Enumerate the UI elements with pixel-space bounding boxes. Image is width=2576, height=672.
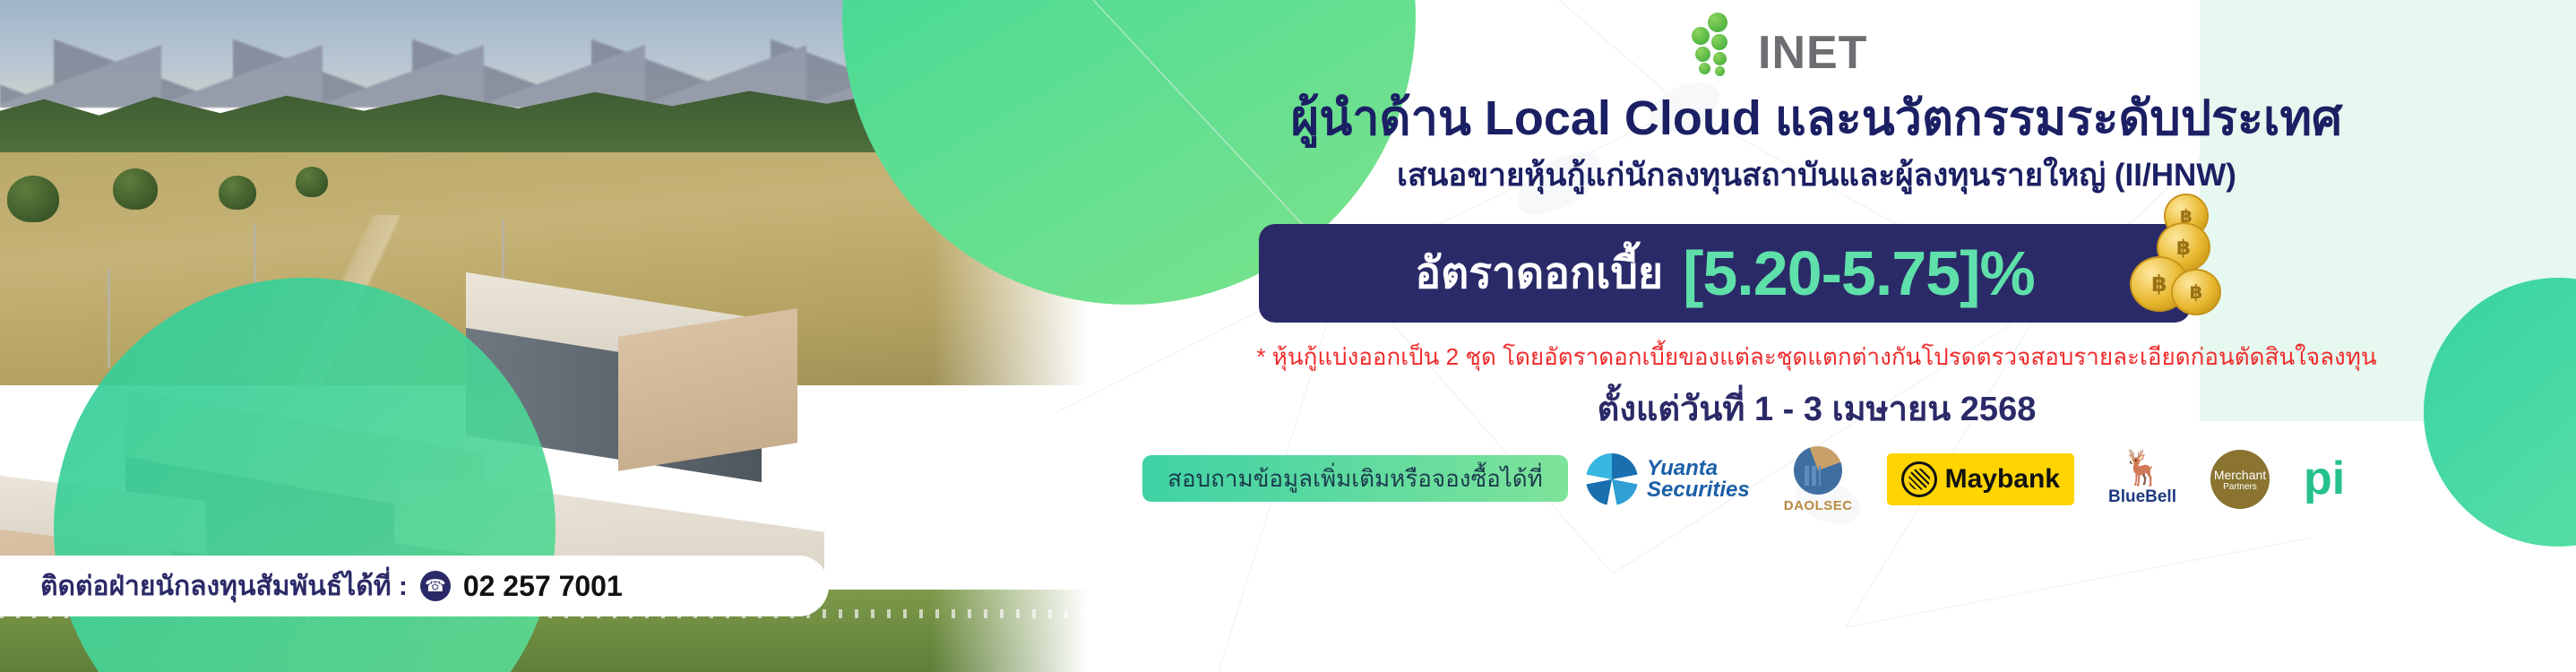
- partner-logo-maybank[interactable]: Maybank: [1887, 453, 2074, 505]
- partner-logos: Yuanta Securities DAOLSEC Maybank 🦌 Blue…: [1586, 439, 2572, 520]
- maybank-tiger-icon: [1901, 461, 1937, 497]
- promotional-banner: INET ผู้นำด้าน Local Cloud และนวัตกรรมระ…: [0, 0, 2576, 672]
- gold-coins-icon: ฿ ฿ ฿ ฿: [2117, 190, 2234, 342]
- headline: ผู้นำด้าน Local Cloud และนวัตกรรมระดับปร…: [1057, 79, 2576, 156]
- bluebell-wordmark: BlueBell: [2108, 487, 2176, 507]
- rate-value: [5.20-5.75]%: [1683, 237, 2035, 309]
- building-wall: [618, 308, 797, 471]
- partner-logo-bluebell[interactable]: 🦌 BlueBell: [2108, 452, 2176, 507]
- investor-relations-contact-bar: ติดต่อฝ่ายนักลงทุนสัมพันธ์ได้ที่ : ☎ 02 …: [0, 556, 829, 616]
- partner-logo-daol[interactable]: DAOLSEC: [1784, 446, 1853, 513]
- contact-label: ติดต่อฝ่ายนักลงทุนสัมพันธ์ได้ที่ :: [40, 565, 408, 607]
- daol-sub: SEC: [1823, 498, 1852, 513]
- utility-pole: [108, 269, 110, 367]
- daol-mark-icon: [1794, 446, 1842, 495]
- partner-logo-yuanta[interactable]: Yuanta Securities: [1586, 453, 1750, 505]
- yuanta-mark-icon: [1586, 453, 1638, 505]
- yuanta-line1: Yuanta: [1647, 456, 1718, 480]
- offering-dates: ตั้งแต่วันที่ 1 - 3 เมษายน 2568: [1057, 381, 2576, 435]
- partner-logo-merchant-partners[interactable]: Merchant Partners: [2210, 450, 2270, 509]
- inet-dots-icon: [1684, 13, 1749, 75]
- coin: ฿: [2171, 269, 2221, 315]
- tree: [7, 176, 59, 222]
- subheadline: เสนอขายหุ้นกู้แก่นักลงทุนสถาบันและผู้ลงท…: [1057, 151, 2576, 200]
- phone-icon: ☎: [420, 571, 451, 601]
- daol-wordmark: DAOLSEC: [1784, 498, 1853, 513]
- tree: [296, 167, 328, 197]
- contact-phone-number[interactable]: 02 257 7001: [463, 570, 623, 603]
- interest-rate-badge: อัตราดอกเบี้ย [5.20-5.75]% ฿ ฿ ฿ ฿: [1259, 224, 2191, 323]
- inet-logo: INET: [1684, 13, 1867, 75]
- tree: [219, 176, 256, 210]
- rate-label: อัตราดอกเบี้ย: [1415, 239, 1663, 307]
- disclaimer-note: * หุ้นกู้แบ่งออกเป็น 2 ชุด โดยอัตราดอกเบ…: [1057, 339, 2576, 375]
- inet-wordmark: INET: [1758, 31, 1867, 75]
- partner-logo-pi[interactable]: pi: [2304, 461, 2345, 498]
- merchant-line2: Partners: [2223, 482, 2257, 492]
- maybank-wordmark: Maybank: [1945, 464, 2060, 495]
- daol-main: DAOL: [1784, 498, 1824, 513]
- yuanta-wordmark: Yuanta Securities: [1647, 458, 1750, 501]
- tree: [113, 168, 158, 210]
- deer-icon: 🦌: [2121, 452, 2163, 486]
- yuanta-line2: Securities: [1647, 478, 1750, 502]
- merchant-line1: Merchant: [2214, 468, 2266, 482]
- inquiry-cta-button[interactable]: สอบถามข้อมูลเพิ่มเติมหรือจองซื้อได้ที่: [1142, 455, 1568, 502]
- content-column: INET ผู้นำด้าน Local Cloud และนวัตกรรมระ…: [1057, 0, 2576, 672]
